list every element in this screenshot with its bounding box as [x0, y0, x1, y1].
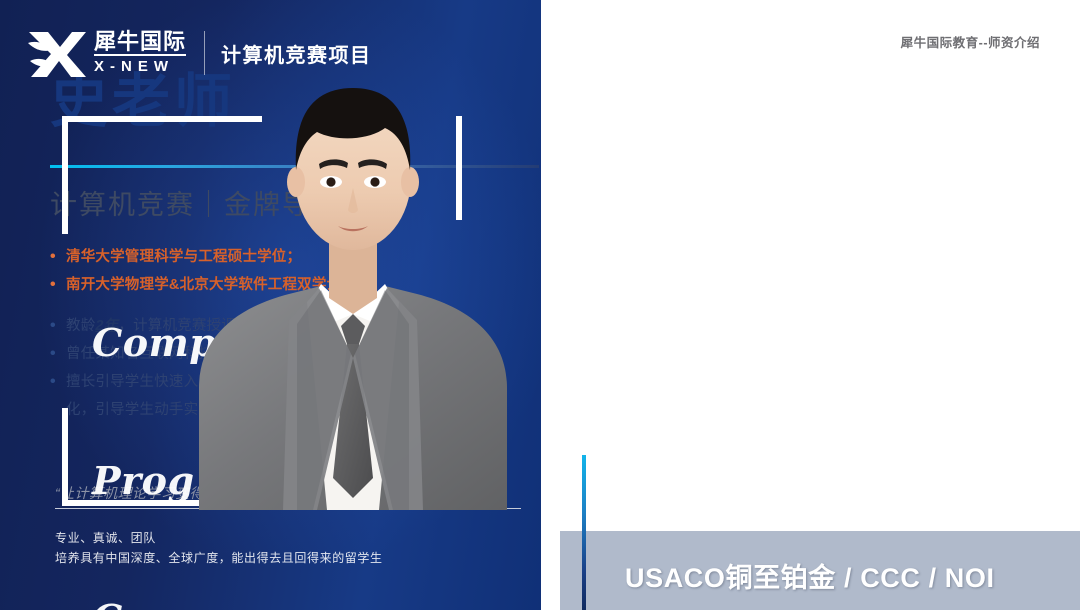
footer-slogan-line-1: 专业、真诚、团队 — [55, 528, 383, 548]
program-tag-label: 计算机竞赛项目 — [221, 39, 372, 68]
brand-logo-block[interactable]: 犀牛国际 X-NEW 计算机竞赛项目 — [26, 24, 372, 82]
frame-corner-bottom-left-vertical — [62, 408, 68, 506]
eyebrow-label: 犀牛国际教育--师资介绍 — [901, 32, 1040, 51]
logo-wordmark: 犀牛国际 X-NEW — [94, 30, 186, 77]
left-panel-footer: 专业、真诚、团队 培养具有中国深度、全球广度，能出得去且回得来的留学生 — [55, 528, 383, 568]
vertical-accent-bar — [582, 455, 586, 610]
logo-chinese-name: 犀牛国际 — [94, 30, 186, 56]
frame-corner-top-left-vertical — [62, 116, 68, 234]
logo-english-name: X-NEW — [94, 58, 186, 77]
slide-canvas: 犀牛国际 X-NEW 计算机竞赛项目 Compu Prog Com — [0, 0, 1080, 610]
course-banner-label: USACO铜至铂金 / CCC / NOI — [625, 556, 995, 595]
logo-divider — [204, 31, 205, 75]
right-content-pane — [541, 0, 1080, 610]
teacher-portrait-photo — [193, 58, 513, 510]
footer-slogan-line-2: 培养具有中国深度、全球广度，能出得去且回得来的留学生 — [55, 548, 383, 568]
rhino-x-logo-icon — [26, 27, 88, 79]
